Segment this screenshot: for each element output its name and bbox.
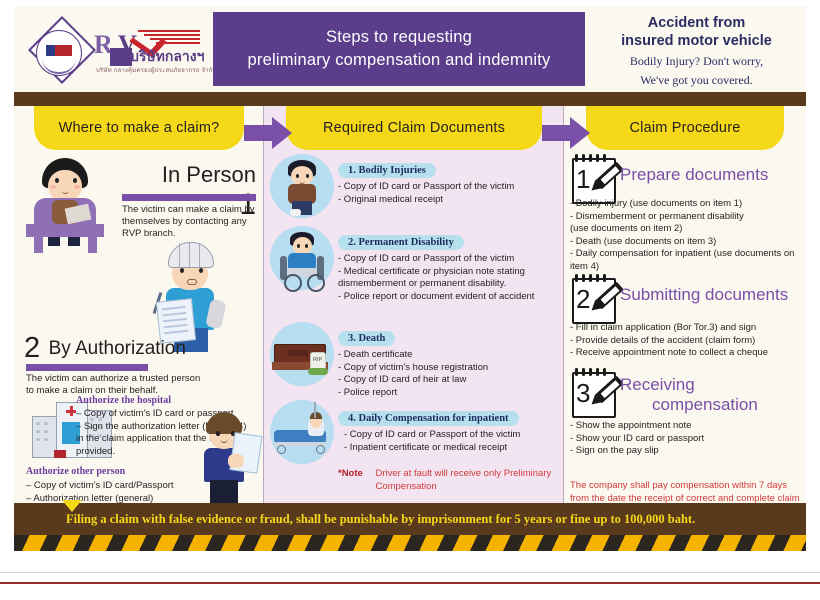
option-2-label: By Authorization — [49, 338, 186, 359]
tab-claim-procedure[interactable]: Claim Procedure — [586, 106, 784, 150]
authorize-other-title: Authorize other person — [26, 466, 125, 477]
doc-title-1: 1. Bodily Injuries — [338, 163, 436, 178]
company-logo: R V บริษัทกลางฯ บริษัท กลางคุ้มครองผู้ปร… — [28, 22, 213, 80]
tab-label-2: Required Claim Documents — [323, 120, 505, 136]
rvp-seal-icon — [36, 30, 80, 74]
footer-divider-light — [0, 572, 820, 573]
logo-brand-subtext: บริษัท กลางคุ้มครองผู้ประสบภัยจากรถ จำกั… — [96, 65, 217, 75]
doc-title-2: 2. Permanent Disability — [338, 235, 464, 250]
tagline-heading-1: Accident from — [594, 14, 799, 32]
header-tagline: Accident from insured motor vehicle Bodi… — [594, 14, 799, 88]
step-line: - Provide details of the accident (claim… — [570, 335, 806, 348]
step-line: - Fill in claim application (Bor Tor.3) … — [570, 322, 806, 335]
option-by-authorization: 2 By Authorization — [24, 332, 186, 365]
doc-line: - Medical certificate or physician note … — [338, 266, 562, 279]
step-line: item 4) — [570, 261, 806, 274]
step-line: (use documents on item 2) — [570, 223, 806, 236]
doc-line: - Copy of ID card or Passport of the vic… — [338, 253, 562, 266]
arrow-2-body — [542, 125, 572, 141]
tagline-sub-1: Bodily Injury? Don't worry, — [594, 54, 799, 69]
step-line: - Daily compensation for inpatient (use … — [570, 248, 806, 261]
doc-list-3: - Death certificate - Copy of victim's h… — [338, 349, 562, 399]
coffin-icon: RIP — [270, 322, 334, 386]
doc-line: - Police report or document evident of a… — [338, 291, 562, 304]
step-number-1: 1 — [576, 160, 590, 198]
arrow-1-body — [244, 125, 274, 141]
warning-bar: Filing a claim with false evidence or fr… — [14, 503, 806, 551]
doc-list-2: - Copy of ID card or Passport of the vic… — [338, 253, 562, 303]
wheelchair-person-icon — [270, 226, 334, 290]
step-list-2: - Fill in claim application (Bor Tor.3) … — [570, 322, 806, 360]
doc-line: - Copy of ID card or Passport of the vic… — [338, 181, 562, 194]
top-brown-bar — [14, 92, 806, 106]
person-holding-form-icon — [194, 412, 260, 504]
logo-block-icon — [110, 48, 132, 66]
column-required-documents: Required Claim Documents 1. Bodily Injur… — [264, 106, 564, 507]
step-line: - Show the appointment note — [570, 420, 806, 433]
doc-line: - Copy of ID card or Passport of the vic… — [344, 429, 562, 442]
footer-divider-red — [0, 582, 820, 584]
doc-list-4: - Copy of ID card or Passport of the vic… — [344, 429, 562, 454]
authorize-hospital-title: Authorize the hospital — [76, 395, 171, 406]
person-at-desk-icon — [26, 158, 104, 244]
doc-title-3: 3. Death — [338, 331, 395, 346]
doc-title-4: 4. Daily Compensation for inpatient — [338, 411, 519, 426]
option-2-text: The victim can authorize a trusted perso… — [26, 373, 201, 397]
title-line-2: preliminary compensation and indemnity — [248, 49, 551, 72]
main-title: Steps to requesting preliminary compensa… — [213, 12, 585, 86]
option-1-text: The victim can make a claim by themselve… — [122, 204, 262, 240]
arrow-1-head — [272, 117, 292, 149]
doc-line: - Police report — [338, 387, 562, 400]
header: R V บริษัทกลางฯ บริษัท กลางคุ้มครองผู้ปร… — [14, 6, 806, 92]
rvp-wordmark: R V บริษัทกลางฯ บริษัท กลางคุ้มครองผู้ปร… — [94, 28, 212, 76]
step-title-3b: compensation — [652, 394, 758, 415]
divider-bar-1 — [122, 194, 256, 201]
hospital-bed-icon — [270, 400, 334, 464]
tab-label-1: Where to make a claim? — [59, 120, 220, 136]
option-1-label: In Person — [162, 162, 256, 188]
step-title-2: Submitting documents — [620, 284, 788, 305]
column-claim-procedure: Claim Procedure 1 Prepare documents - Bo… — [564, 106, 806, 507]
step-number-2: 2 — [576, 280, 590, 318]
step-line: - Death (use documents on item 3) — [570, 236, 806, 249]
step-line: - Receive appointment note to collect a … — [570, 347, 806, 360]
warning-pointer-icon — [62, 500, 82, 512]
step-list-1: - Bodily injury (use documents on item 1… — [570, 198, 806, 273]
doc-line: dismemberment or permanent disability. — [338, 278, 562, 291]
tab-required-claim-documents[interactable]: Required Claim Documents — [286, 106, 542, 150]
step-title-3: Receiving — [620, 374, 695, 395]
note-block: *Note Driver at fault will receive only … — [338, 468, 564, 493]
divider-bar-2 — [26, 364, 148, 371]
doc-line: - Death certificate — [338, 349, 562, 362]
option-2-number: 2 — [24, 332, 40, 364]
title-line-1: Steps to requesting — [326, 26, 472, 49]
step-line: - Sign on the pay slip — [570, 445, 806, 458]
step-line: - Bodily injury (use documents on item 1… — [570, 198, 806, 211]
warning-text-bar: Filing a claim with false evidence or fr… — [14, 503, 806, 535]
step-number-3: 3 — [576, 374, 590, 412]
infographic-page: R V บริษัทกลางฯ บริษัท กลางคุ้มครองผู้ปร… — [0, 0, 820, 600]
note-label: *Note — [338, 468, 363, 479]
tagline-heading-2: insured motor vehicle — [594, 32, 799, 50]
step-line: - Dismemberment or permanent disability — [570, 211, 806, 224]
logo-speedlines-icon — [134, 28, 200, 48]
tab-where-to-make-a-claim[interactable]: Where to make a claim? — [34, 106, 244, 150]
note-text: Driver at fault will receive only Prelim… — [375, 468, 553, 493]
hazard-stripes — [14, 535, 806, 551]
step-title-1: Prepare documents — [620, 164, 768, 185]
tab-label-3: Claim Procedure — [630, 120, 741, 136]
warning-text: Filing a claim with false evidence or fr… — [66, 512, 695, 527]
column-where-to-claim: Where to make a claim? In Person 1 The v… — [14, 106, 264, 507]
other-item: – Copy of victim's ID card/Passport — [26, 480, 206, 493]
step-list-3: - Show the appointment note - Show your … — [570, 420, 806, 458]
doc-line: - Copy of ID card of heir at law — [338, 374, 562, 387]
tagline-sub-2: We've got you covered. — [594, 73, 799, 88]
doc-line: - Inpatient certificate or medical recei… — [344, 442, 562, 455]
doc-line: - Copy of victim's house registration — [338, 362, 562, 375]
doc-line: - Original medical receipt — [338, 194, 562, 207]
step-line: - Show your ID card or passport — [570, 433, 806, 446]
injured-person-icon — [270, 154, 334, 218]
arrow-2-head — [570, 117, 590, 149]
doc-list-1: - Copy of ID card or Passport of the vic… — [338, 181, 562, 206]
